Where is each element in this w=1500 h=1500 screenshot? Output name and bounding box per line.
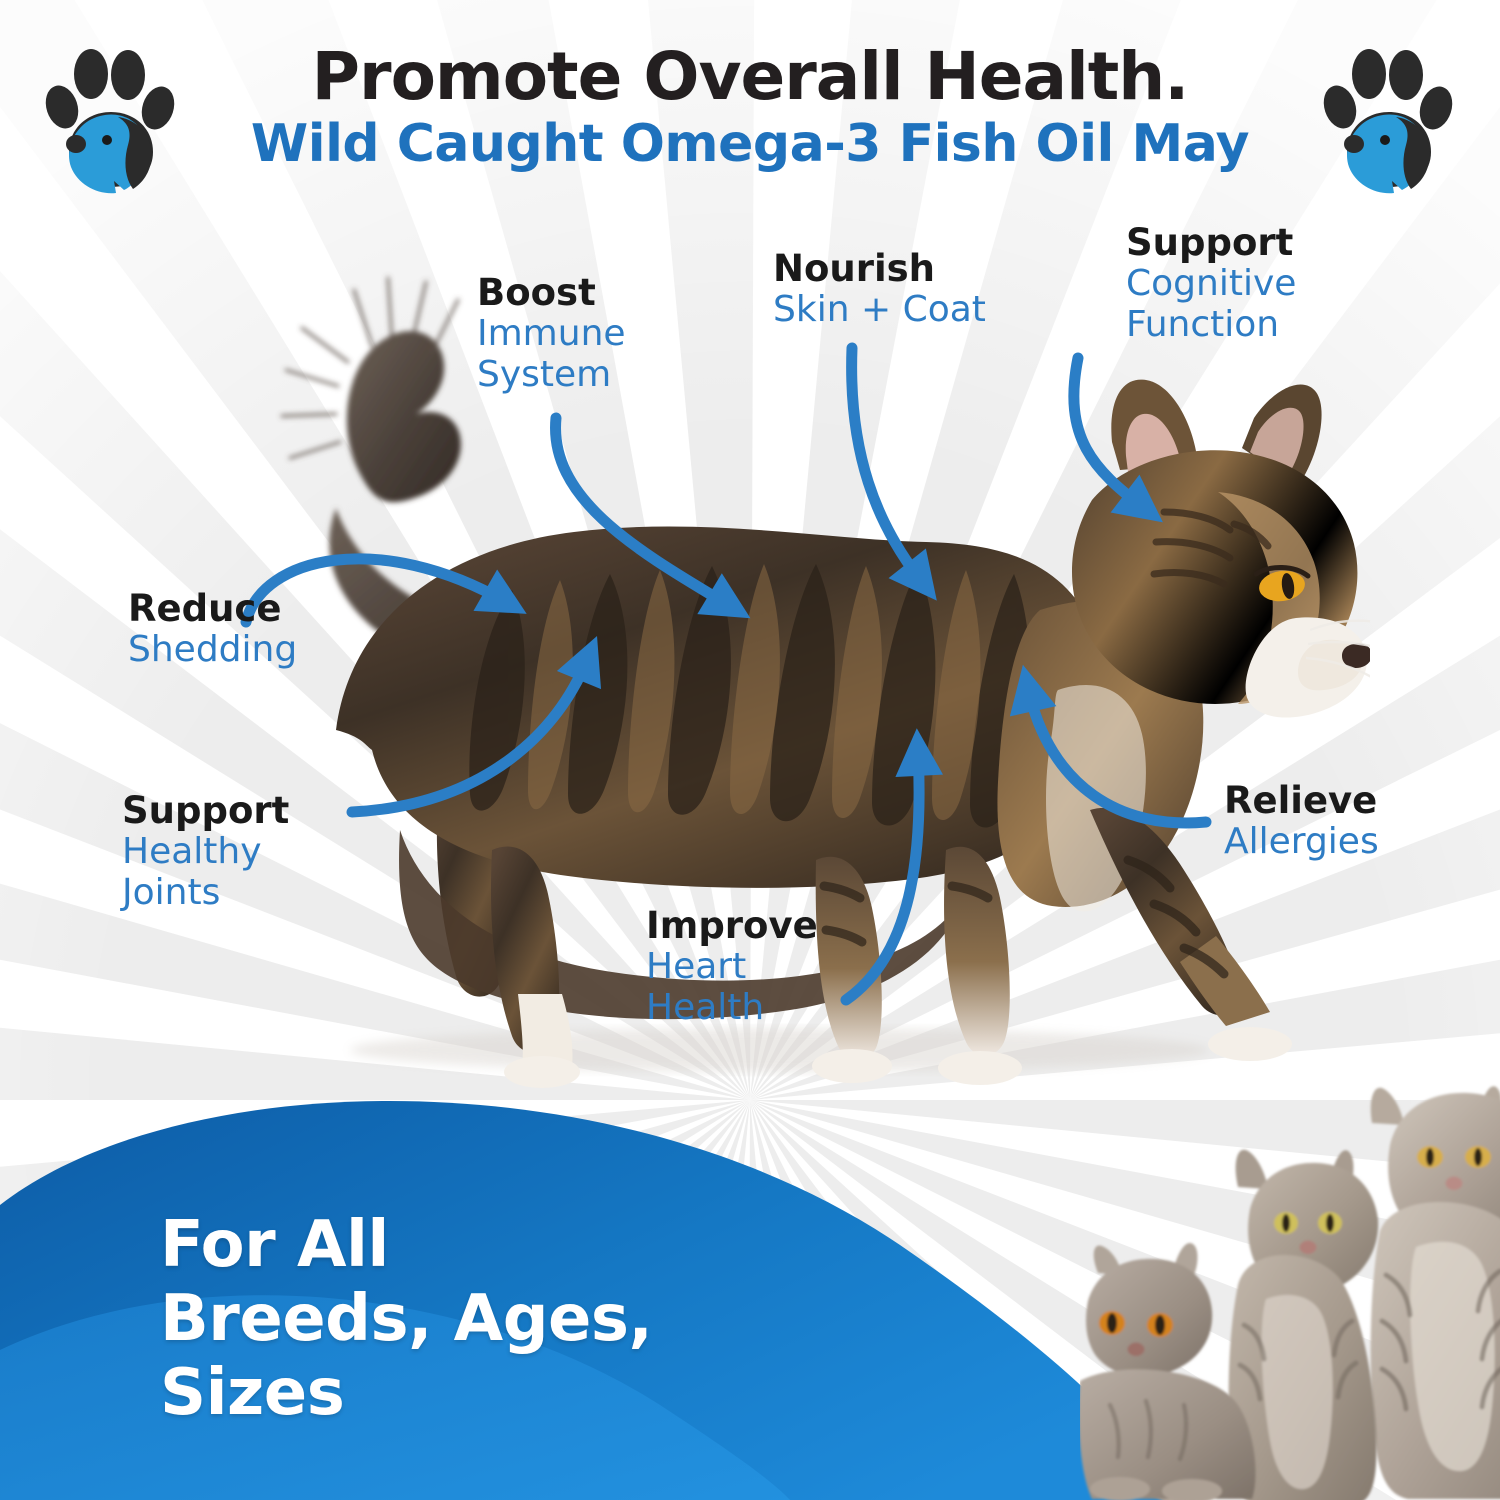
callout-bold-label: Reduce	[128, 588, 297, 629]
banner-headline: For All Breeds, Ages, Sizes	[160, 1208, 652, 1430]
callout-relieve-allergies: Relieve Allergies	[1224, 780, 1379, 862]
callout-improve-heart-health: Improve Heart Health	[646, 905, 818, 1028]
callout-bold-label: Relieve	[1224, 780, 1379, 821]
paw-dog-logo-icon	[45, 44, 177, 194]
callout-reduce-shedding: Reduce Shedding	[128, 588, 297, 670]
callout-sub-label: Healthy	[122, 831, 289, 872]
callout-sub-label: Skin + Coat	[773, 289, 986, 330]
callout-sub-label: Allergies	[1224, 821, 1379, 862]
callout-sub-label: Shedding	[128, 629, 297, 670]
page-title: Promote Overall Health.	[0, 40, 1500, 114]
callout-sub-label: Health	[646, 987, 818, 1028]
header: Promote Overall Health. Wild Caught Omeg…	[0, 40, 1500, 190]
callout-sub-label: Heart	[646, 946, 818, 987]
callout-bold-label: Nourish	[773, 248, 986, 289]
callout-support-healthy-joints: Support Healthy Joints	[122, 790, 289, 913]
banner-line: Sizes	[160, 1356, 652, 1430]
callout-bold-label: Improve	[646, 905, 818, 946]
banner-line: For All	[160, 1208, 652, 1282]
callout-bold-label: Support	[122, 790, 289, 831]
three-cats-photo	[1080, 1075, 1500, 1500]
infographic-canvas: Promote Overall Health. Wild Caught Omeg…	[0, 0, 1500, 1500]
banner-line: Breeds, Ages,	[160, 1282, 652, 1356]
callout-sub-label: System	[477, 354, 626, 395]
page-subtitle: Wild Caught Omega-3 Fish Oil May	[0, 114, 1500, 174]
callout-boost-immune-system: Boost Immune System	[477, 272, 626, 395]
callout-support-cognitive-function: Support Cognitive Function	[1126, 222, 1296, 345]
callout-sub-label: Cognitive	[1126, 263, 1296, 304]
callout-sub-label: Function	[1126, 304, 1296, 345]
callout-sub-label: Immune	[477, 313, 626, 354]
callout-bold-label: Support	[1126, 222, 1296, 263]
callout-sub-label: Joints	[122, 872, 289, 913]
callout-nourish-skin-coat: Nourish Skin + Coat	[773, 248, 986, 330]
callout-bold-label: Boost	[477, 272, 626, 313]
paw-dog-logo-icon	[1323, 44, 1455, 194]
